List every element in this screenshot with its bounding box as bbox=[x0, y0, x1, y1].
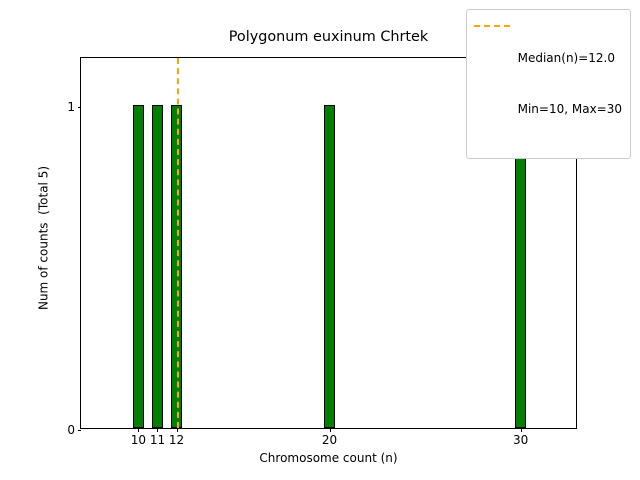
bar bbox=[133, 105, 144, 428]
x-axis-label: Chromosome count (n) bbox=[80, 452, 577, 464]
y-tick-label: 1 bbox=[67, 101, 75, 113]
x-tick-label: 11 bbox=[150, 434, 165, 446]
x-tick bbox=[521, 428, 522, 432]
y-tick-label: 0 bbox=[67, 424, 75, 436]
x-tick bbox=[157, 428, 158, 432]
chart-figure: Polygonum euxinum Chrtek 101112203001 Ch… bbox=[0, 0, 640, 480]
y-tick bbox=[78, 430, 82, 431]
x-tick-label: 30 bbox=[513, 434, 528, 446]
y-tick bbox=[78, 107, 82, 108]
legend-entry-text: Median(n)=12.0 Min=10, Max=30 bbox=[518, 16, 622, 152]
median-line bbox=[177, 58, 179, 428]
x-tick bbox=[330, 428, 331, 432]
bar bbox=[324, 105, 335, 428]
x-tick-label: 12 bbox=[169, 434, 184, 446]
median-line-legend-icon bbox=[474, 16, 510, 33]
x-tick-label: 20 bbox=[322, 434, 337, 446]
x-tick bbox=[177, 428, 178, 432]
bar bbox=[152, 105, 163, 428]
legend-minmax-label: Min=10, Max=30 bbox=[518, 101, 622, 118]
x-tick bbox=[138, 428, 139, 432]
y-axis-label: Num of counts (Total 5) bbox=[38, 0, 50, 480]
x-tick-label: 10 bbox=[131, 434, 146, 446]
legend-median-label: Median(n)=12.0 bbox=[518, 50, 622, 67]
legend: Median(n)=12.0 Min=10, Max=30 bbox=[466, 9, 631, 159]
